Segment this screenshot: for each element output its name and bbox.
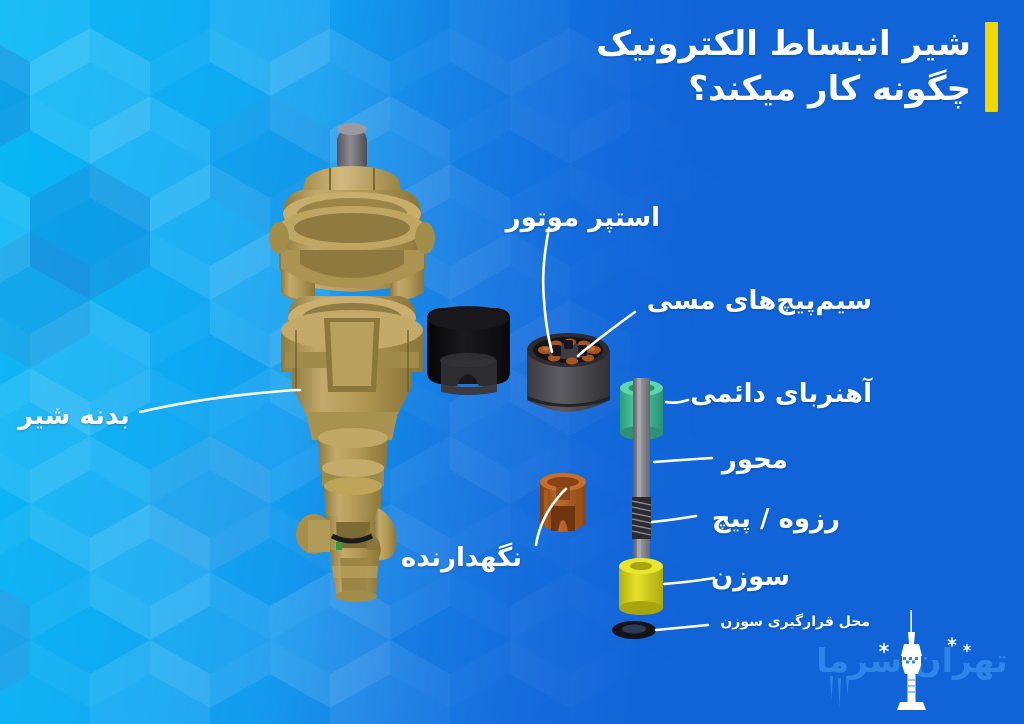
label-valve-body: بدنه شیر	[18, 401, 130, 431]
title-line-1: شیر انبساط الکترونیک	[596, 22, 971, 67]
label-retainer: نگهدارنده	[0, 543, 522, 573]
label-copper-windings: سیم‌پیچ‌های مسی	[0, 286, 872, 316]
page-title: شیر انبساط الکترونیک چگونه کار میکند؟	[596, 22, 998, 112]
icicle-drip	[830, 676, 849, 708]
label-thread-screw: رزوه / پیچ	[0, 504, 840, 534]
title-line-2: چگونه کار میکند؟	[596, 67, 971, 112]
title-accent-bar	[985, 22, 998, 112]
label-needle-seat: محل قرارگیری سوزن	[0, 614, 870, 630]
label-shaft: محور	[0, 445, 788, 475]
brand-logo: تهران سرما	[812, 604, 1012, 716]
infographic-canvas: شیر انبساط الکترونیک چگونه کار میکند؟ اس…	[0, 0, 1024, 724]
label-permanent-magnet: آهنربای دائمی	[0, 379, 872, 409]
label-stepper-motor: استپر موتور	[0, 203, 660, 233]
